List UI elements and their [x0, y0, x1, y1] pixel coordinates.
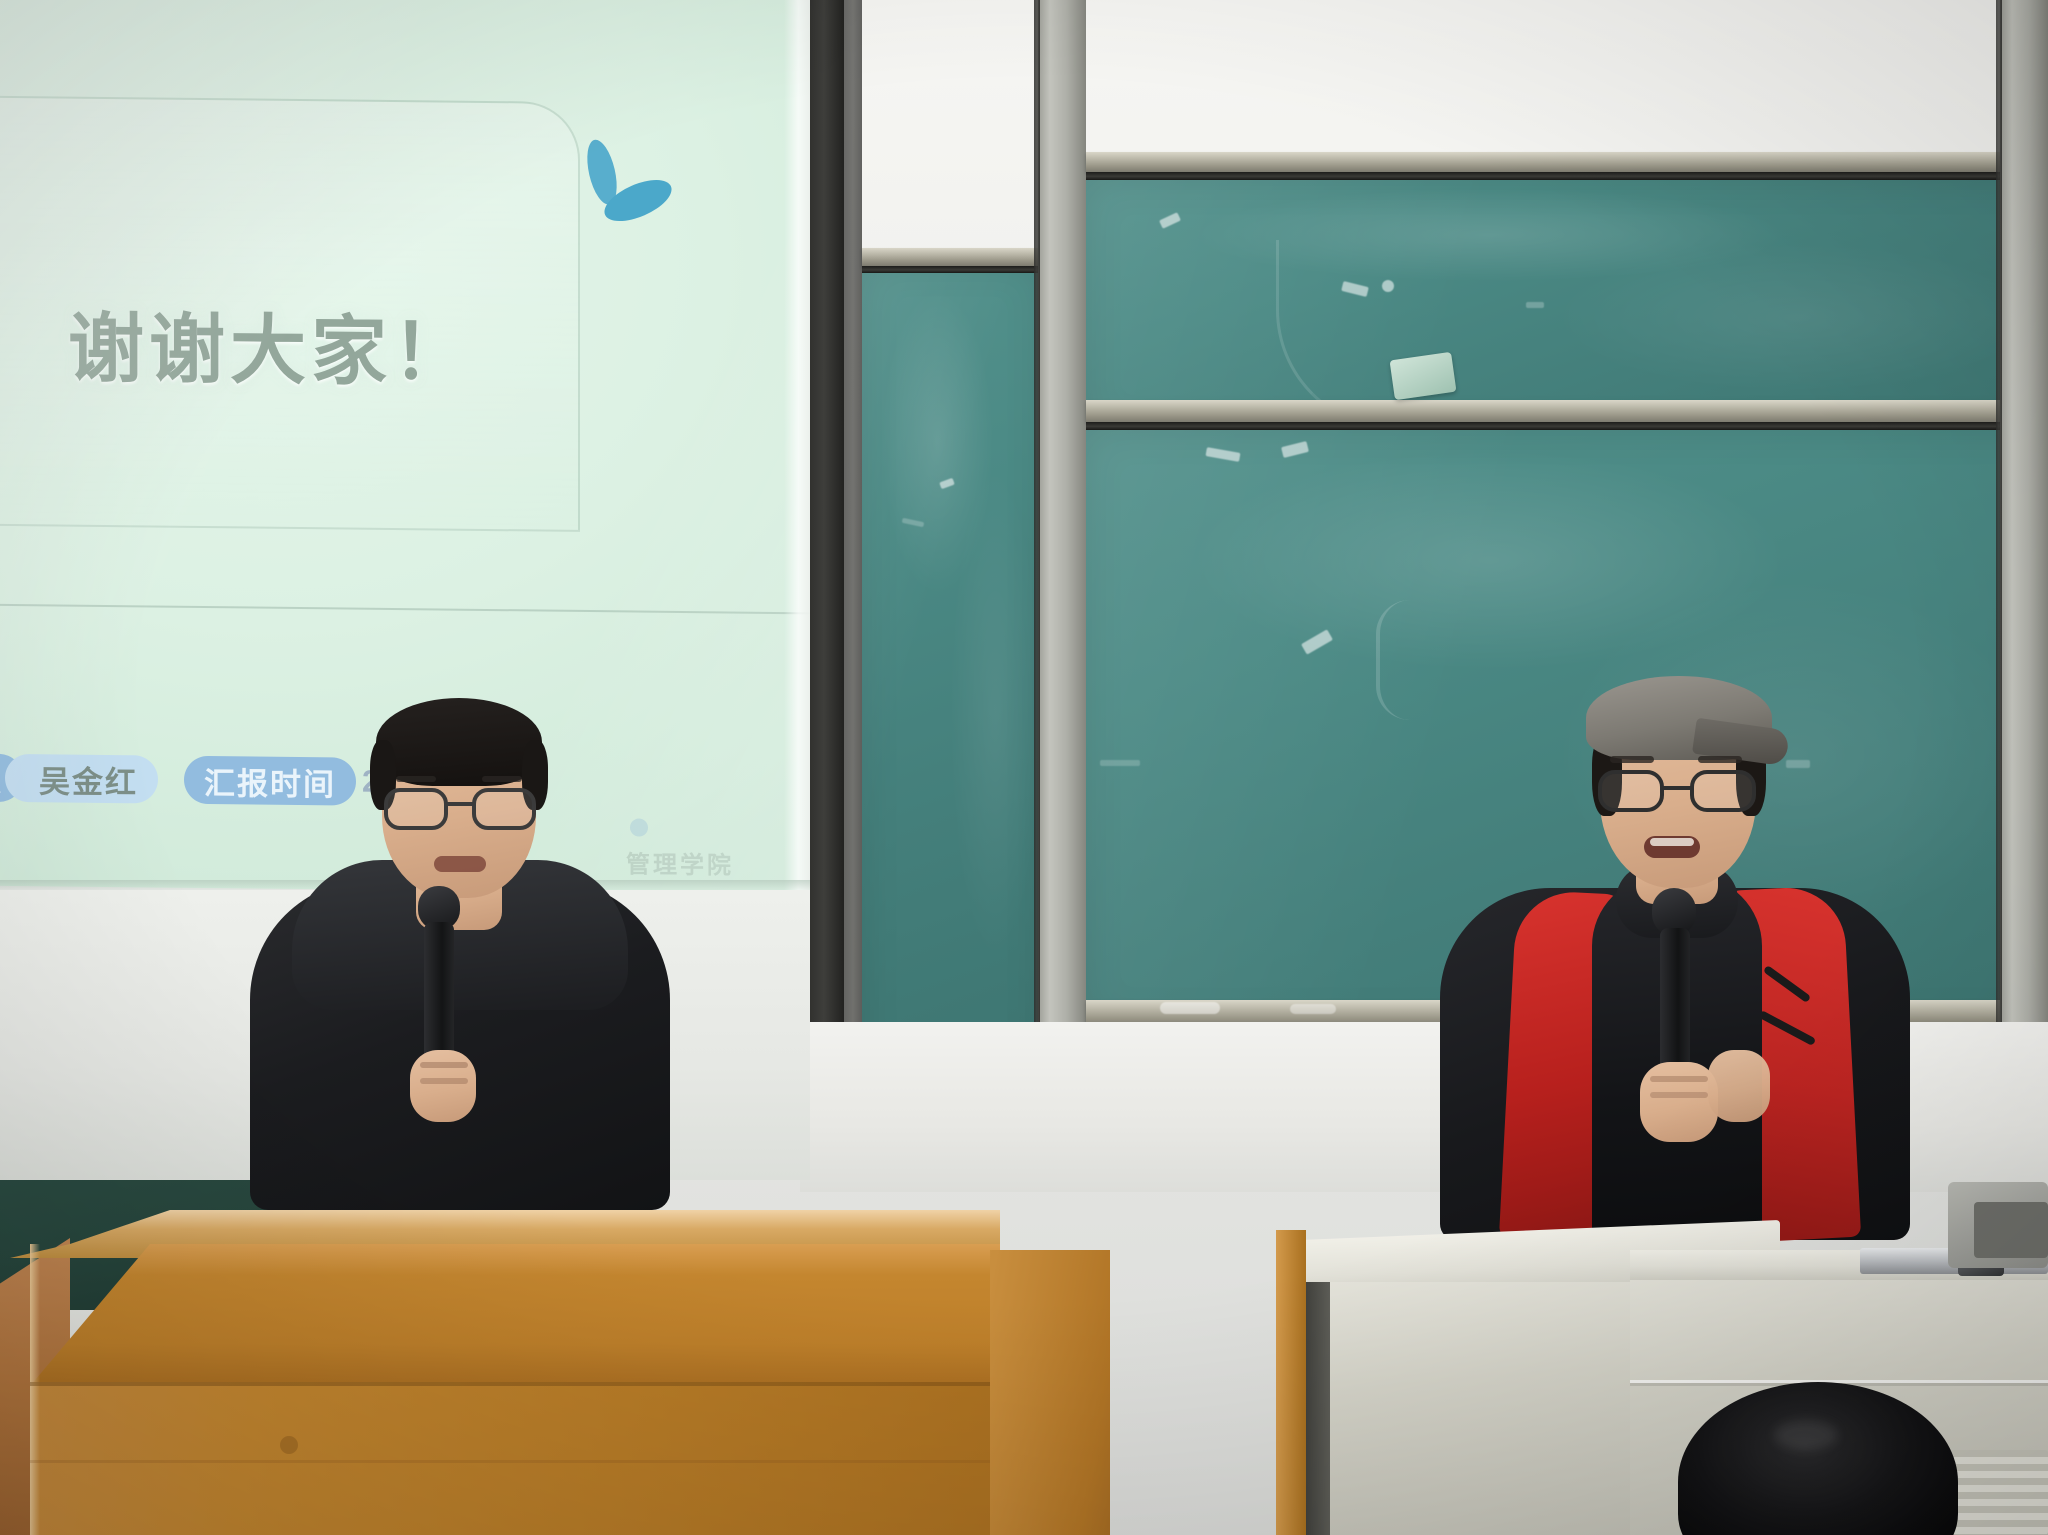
board-rail-left-top	[862, 248, 1048, 266]
blackboard-upper	[1086, 180, 2046, 430]
podium-secondary	[990, 1250, 1110, 1535]
presenter-name-badge: 吴金红	[5, 754, 158, 804]
board-track-shadow	[844, 0, 862, 1180]
left-speaker	[250, 690, 670, 1210]
left-speaker-glasses-icon	[376, 782, 546, 834]
left-speaker-hand	[410, 1050, 476, 1122]
board-mullion-right-edge	[1996, 0, 2002, 1180]
slide-headline: 谢谢大家！	[68, 287, 473, 401]
board-rail-left-lip	[862, 266, 1048, 273]
board-track-dark-left	[804, 0, 844, 1180]
right-speaker-hand-right	[1640, 1062, 1718, 1142]
podium-wood-knot	[280, 1436, 298, 1454]
wooden-podium	[0, 1170, 1000, 1535]
board-rail-middle-lip	[1086, 422, 2046, 430]
chalk-stick	[1160, 1002, 1220, 1014]
right-speaker-glasses-icon	[1592, 764, 1768, 818]
podium-reading-shelf	[30, 1244, 1000, 1386]
board-mullion-center-edge	[1034, 0, 1040, 1180]
left-speaker-hair	[376, 698, 542, 786]
board-clip	[1390, 352, 1457, 400]
podium-wood-sliver	[1276, 1230, 1306, 1535]
chalk-stick	[1290, 1004, 1336, 1014]
blackboard-panel-left	[862, 262, 1042, 1082]
board-rail-middle	[1086, 400, 2046, 422]
classroom-photo: 谢谢大家！ 人 吴金红 汇报时间 2024. 管理学院	[0, 0, 2048, 1535]
board-rail-top	[1086, 152, 2046, 172]
board-rail-top-lip	[1086, 172, 2046, 180]
console-body-left	[1300, 1282, 1630, 1535]
right-speaker-hand-left	[1708, 1050, 1770, 1122]
screen-right-edge	[784, 0, 810, 890]
right-speaker	[1440, 680, 1910, 1240]
two-leaf-icon	[568, 132, 678, 243]
podium-body	[30, 1382, 1000, 1535]
board-mullion-right	[2000, 0, 2048, 1180]
podium-edge-highlight	[30, 1244, 40, 1535]
board-mullion-center	[1038, 0, 1086, 1180]
